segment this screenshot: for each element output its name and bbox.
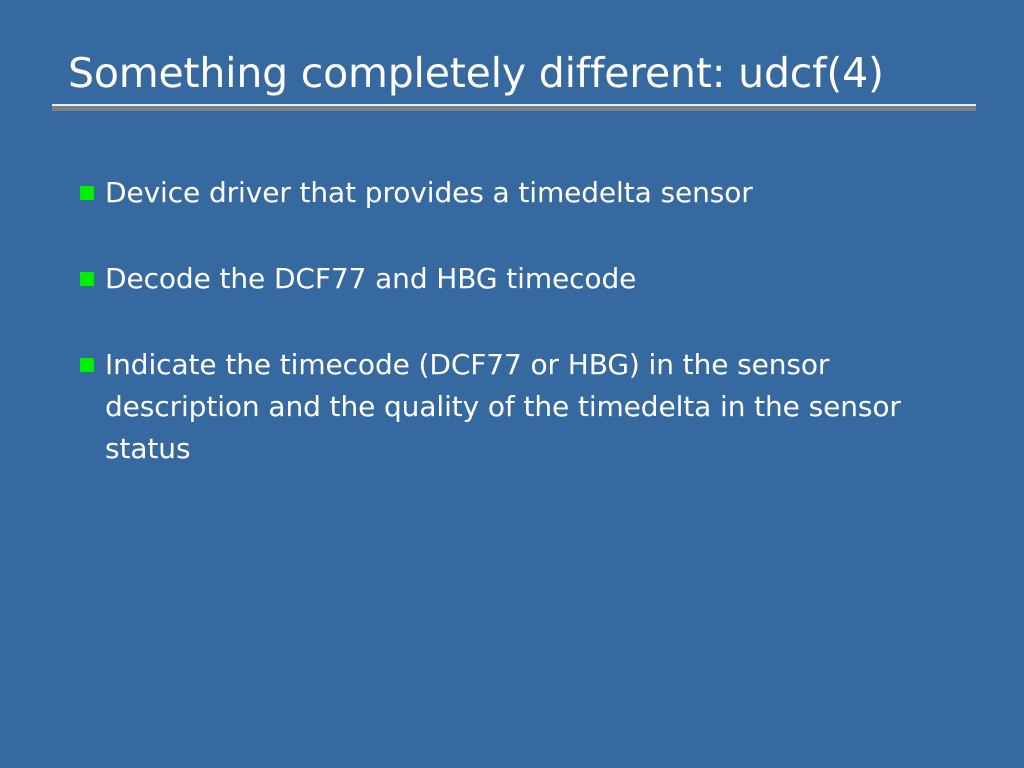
list-item: Indicate the timecode (DCF77 or HBG) in … bbox=[80, 344, 960, 470]
presentation-slide: Something completely different: udcf(4) … bbox=[0, 0, 1024, 768]
title-divider-rule bbox=[52, 104, 976, 111]
bullet-list: Device driver that provides a timedelta … bbox=[80, 172, 960, 470]
green-square-bullet-icon bbox=[80, 186, 94, 200]
green-square-bullet-icon bbox=[80, 272, 94, 286]
list-item: Device driver that provides a timedelta … bbox=[80, 172, 960, 214]
list-item-label: Indicate the timecode (DCF77 or HBG) in … bbox=[105, 344, 935, 470]
title-divider-shadow bbox=[52, 106, 976, 111]
page-title: Something completely different: udcf(4) bbox=[52, 48, 976, 98]
slide-title-block: Something completely different: udcf(4) bbox=[52, 48, 976, 111]
green-square-bullet-icon bbox=[80, 358, 94, 372]
list-item: Decode the DCF77 and HBG timecode bbox=[80, 258, 960, 300]
list-item-label: Device driver that provides a timedelta … bbox=[105, 172, 960, 214]
list-item-label: Decode the DCF77 and HBG timecode bbox=[105, 258, 960, 300]
